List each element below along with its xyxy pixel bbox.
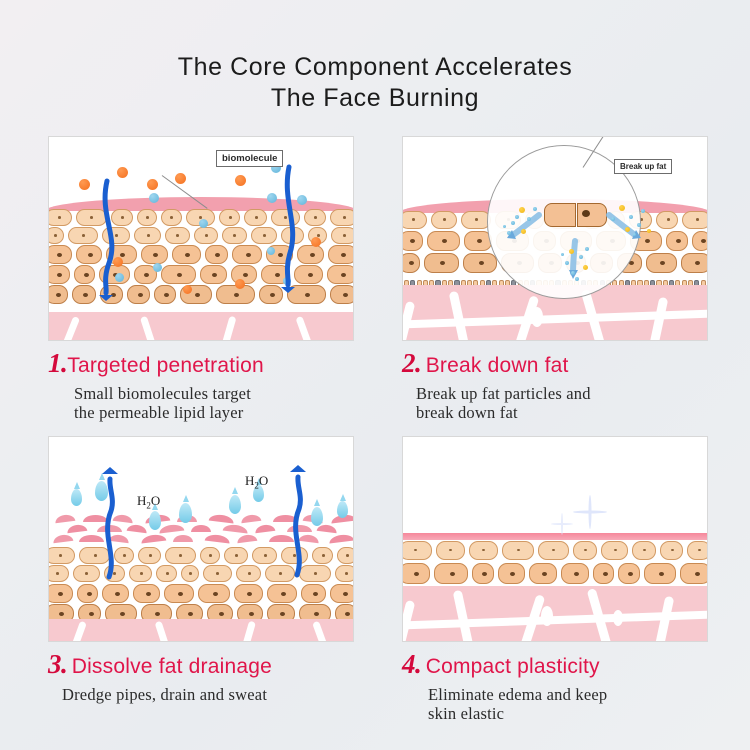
steps-row-2: H2O H2O 3. Dissolve fat drainage	[48, 436, 708, 723]
molecule-blue	[611, 217, 615, 221]
illustration-compact-plasticity	[402, 436, 708, 642]
molecule-blue	[503, 225, 506, 228]
step-number-4: 4.	[402, 649, 421, 679]
molecule-yellow	[519, 207, 525, 213]
skin-cell	[593, 563, 613, 584]
steps-row-1: biomolecule 1.Targeted penetration Small…	[48, 136, 708, 422]
caption-1: 1.Targeted penetration Small biomolecule…	[48, 341, 354, 422]
caption-4: 4. Compact plasticity Eliminate edema an…	[402, 642, 708, 723]
basal-cell	[353, 312, 354, 326]
caption-body-1: Small biomolecules target the permeable …	[48, 379, 354, 422]
cell-nucleus	[482, 549, 485, 552]
cell-nucleus	[643, 549, 646, 552]
skin-cell	[644, 563, 676, 584]
skin-cell	[687, 541, 708, 560]
cell-nucleus	[542, 572, 547, 576]
step-heading-3: Dissolve fat drainage	[72, 655, 272, 678]
cell-nucleus	[450, 572, 455, 576]
skin-cell	[434, 563, 467, 584]
cell-row	[402, 541, 708, 560]
step-heading-4: Compact plasticity	[426, 655, 600, 678]
basal-cell	[707, 590, 708, 604]
skin-cell	[573, 541, 597, 560]
skin-cell	[601, 541, 628, 560]
skin-cell	[618, 563, 640, 584]
molecule-blue	[637, 223, 641, 227]
molecule-blue	[507, 231, 511, 235]
molecule-yellow	[619, 205, 625, 211]
penetration-arrows	[49, 137, 353, 340]
step-card-1: biomolecule 1.Targeted penetration Small…	[48, 136, 354, 422]
molecule-yellow	[583, 265, 588, 270]
caption-body-2-line-2: break down fat	[416, 403, 708, 422]
cell-nucleus	[517, 549, 520, 552]
molecule-blue	[585, 247, 589, 251]
skin-cell	[538, 541, 569, 560]
title-line-1: The Core Component Accelerates	[178, 53, 573, 81]
molecule-blue	[515, 215, 519, 219]
molecule-blue	[641, 209, 645, 213]
skin-cell	[469, 541, 498, 560]
skin-cell	[502, 541, 534, 560]
cell-nucleus	[449, 549, 452, 552]
caption-body-3-line-1: Dredge pipes, drain and sweat	[62, 685, 354, 704]
step-card-4: 4. Compact plasticity Eliminate edema an…	[402, 436, 708, 723]
molecule-blue	[533, 207, 537, 211]
step-card-3: H2O H2O 3. Dissolve fat drainage	[48, 436, 354, 723]
skin-cell	[498, 563, 525, 584]
caption-3: 3. Dissolve fat drainage Dredge pipes, d…	[48, 642, 354, 704]
caption-body-2-line-1: Break up fat particles and	[416, 384, 708, 403]
molecule-blue	[575, 277, 579, 281]
step-card-2: Break up fat 2. Break down fat Break up …	[402, 136, 708, 422]
caption-heading-1: 1.Targeted penetration	[48, 348, 354, 379]
molecule-blue	[561, 253, 564, 256]
skin-cell	[561, 563, 590, 584]
skin-cell	[472, 563, 494, 584]
molecule-blue	[565, 261, 569, 265]
cell-nucleus	[414, 549, 417, 552]
illustration-dissolve-fat-drainage: H2O H2O	[48, 436, 354, 642]
basal-cell	[353, 630, 354, 642]
cell-nucleus	[482, 572, 487, 576]
molecule-blue	[511, 221, 515, 225]
basal-cell	[707, 280, 708, 294]
step-number-1: 1.	[48, 348, 67, 378]
cell-row	[402, 563, 708, 584]
molecule-yellow	[521, 229, 526, 234]
molecule-yellow	[625, 227, 630, 232]
callout-label-break-up-fat: Break up fat	[614, 159, 672, 174]
cell-nucleus	[603, 572, 608, 576]
skin-cell	[529, 563, 557, 584]
caption-body-4: Eliminate edema and keep skin elastic	[402, 680, 708, 723]
cell-nucleus	[584, 549, 587, 552]
cell-nucleus	[614, 549, 617, 552]
title-line-2: The Face Burning	[0, 83, 750, 114]
evaporation-arrows	[49, 437, 353, 641]
cell-nucleus	[671, 549, 674, 552]
page-title: The Core Component Accelerates The Face …	[0, 52, 750, 114]
caption-heading-2: 2. Break down fat	[402, 348, 708, 379]
cell-nucleus	[698, 549, 701, 552]
cell-nucleus	[628, 572, 633, 576]
skin-cell	[402, 563, 430, 584]
subcutaneous-fat-layer	[403, 586, 707, 641]
molecule-blue	[579, 255, 583, 259]
illustration-break-down-fat: Break up fat	[402, 136, 708, 341]
cell-nucleus	[414, 572, 419, 576]
steps-grid: biomolecule 1.Targeted penetration Small…	[48, 136, 708, 723]
caption-2: 2. Break down fat Break up fat particles…	[402, 341, 708, 422]
skin-cell	[680, 563, 708, 584]
cell-nucleus	[659, 572, 664, 576]
caption-body-1-line-1: Small biomolecules target	[74, 384, 354, 403]
molecule-blue	[629, 215, 633, 219]
caption-body-3: Dredge pipes, drain and sweat	[48, 680, 354, 704]
skin-cell	[632, 541, 656, 560]
illustration-targeted-penetration: biomolecule	[48, 136, 354, 341]
sparkle-icon-large	[573, 495, 607, 529]
skin-cell	[436, 541, 465, 560]
cell-nucleus	[552, 549, 555, 552]
infographic-page: The Core Component Accelerates The Face …	[0, 0, 750, 750]
molecule-blue	[527, 217, 531, 221]
step-number-3: 3.	[48, 649, 67, 679]
step-heading-2: Break down fat	[426, 354, 569, 377]
cell-nucleus	[510, 572, 515, 576]
molecule-yellow	[569, 249, 574, 254]
callout-label-biomolecule: biomolecule	[216, 150, 283, 167]
caption-body-1-line-2: the permeable lipid layer	[74, 403, 354, 422]
molecule-blue	[633, 233, 636, 236]
cell-nucleus	[574, 572, 579, 576]
molecule-yellow	[647, 229, 651, 233]
step-number-2: 2.	[402, 348, 421, 378]
molecule-blue	[571, 271, 575, 275]
skin-cell	[660, 541, 684, 560]
caption-body-4-line-1: Eliminate edema and keep	[428, 685, 708, 704]
skin-cell	[402, 541, 432, 560]
step-heading-1: Targeted penetration	[67, 354, 264, 377]
cell-nucleus	[695, 572, 700, 576]
caption-body-2: Break up fat particles and break down fa…	[402, 379, 708, 422]
sparkle-icon-small	[551, 513, 573, 535]
caption-heading-3: 3. Dissolve fat drainage	[48, 649, 354, 680]
caption-body-4-line-2: skin elastic	[428, 704, 708, 723]
caption-heading-4: 4. Compact plasticity	[402, 649, 708, 680]
